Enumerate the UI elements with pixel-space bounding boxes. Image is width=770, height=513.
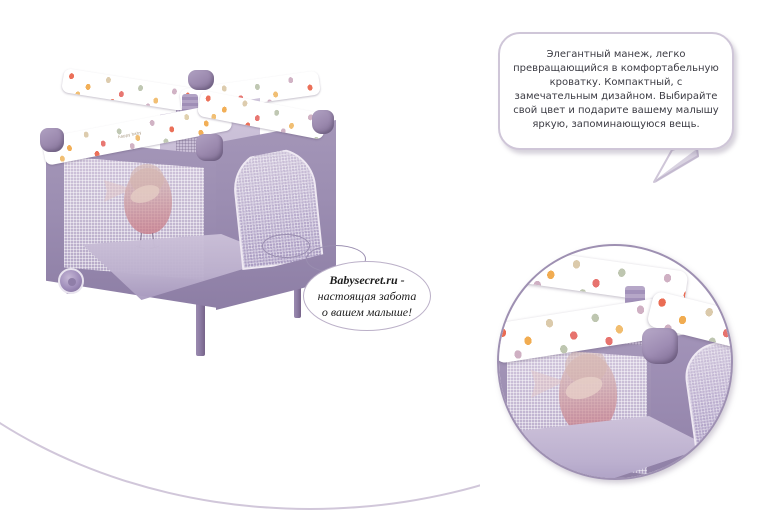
watermark-tagline-line2: о вашем малыше!: [322, 304, 412, 320]
detail-corner-post: [642, 328, 678, 364]
callout-bubble-text: Элегантный манеж, легко превращающийся в…: [510, 48, 722, 132]
playpen-corner-post-front: [196, 134, 223, 161]
callout-bubble: Элегантный манеж, легко превращающийся в…: [498, 32, 734, 150]
arc-mask-top: [0, 0, 770, 14]
playpen-leg-front: [196, 302, 205, 356]
caster-hub: [68, 278, 76, 286]
playpen-corner-post-back: [188, 70, 214, 90]
watermark-tagline-line1: настоящая забота: [318, 288, 417, 304]
playpen-main-photo: Hello! happy baby: [40, 58, 320, 353]
watermark-ghost-oval: [262, 234, 310, 258]
detail-closeup-circle: [497, 244, 733, 480]
detail-closeup-scene: [499, 246, 733, 480]
watermark-brand: Babysecret.ru -: [329, 272, 404, 288]
playpen-corner-post-left: [40, 128, 64, 152]
playpen-corner-post-right: [312, 110, 334, 134]
product-promo-image: Hello! happy baby Элегантный манеж, легк…: [0, 0, 770, 513]
site-watermark: Babysecret.ru - настоящая забота о вашем…: [303, 261, 431, 331]
playpen-caster-wheel: [58, 268, 84, 294]
